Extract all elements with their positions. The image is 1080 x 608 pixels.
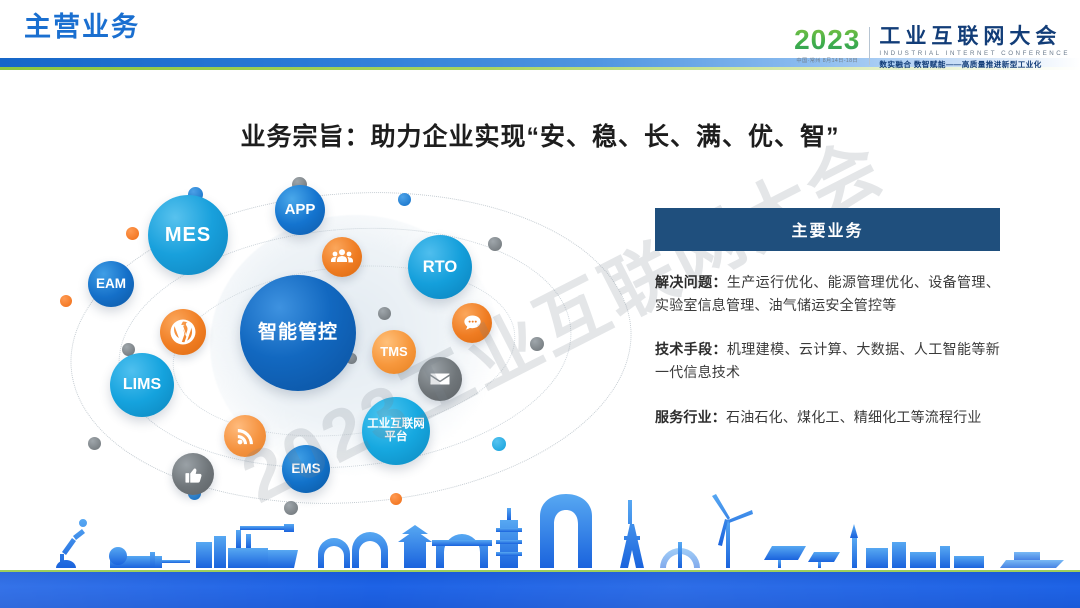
rss-signal-icon[interactable] <box>224 415 266 457</box>
logo-year-block: 2023 中国·常州 8月14日-18日 <box>794 26 869 64</box>
mail-envelope-icon[interactable] <box>418 357 462 401</box>
panel-item-label: 服务行业： <box>655 409 726 425</box>
chat-bubble-icon[interactable] <box>452 303 492 343</box>
accent-dot-blue-2 <box>398 193 411 206</box>
platform-label-line2: 平台 <box>367 431 425 444</box>
logo-name-cn: 工业互联网大会 <box>879 26 1070 48</box>
platform-label-line1: 工业互联网 <box>367 418 425 431</box>
bubble-diagram: 智能管控 MES APP EAM LIMS RTO TMS EMS 工业互联网 … <box>60 175 650 525</box>
panel-body: 解决问题：生产运行优化、能源管理优化、设备管理、实验室信息管理、油气储运安全管控… <box>655 251 1000 428</box>
accent-dot-gray-2 <box>488 237 502 251</box>
slide-root: 主营业务 2023 中国·常州 8月14日-18日 工业互联网大会 INDUST… <box>0 0 1080 608</box>
accent-dot-gray-6 <box>284 501 298 515</box>
bubble-rto[interactable]: RTO <box>408 235 472 299</box>
bubble-industrial-internet-platform[interactable]: 工业互联网 平台 <box>362 397 430 465</box>
bottom-blue-band <box>0 572 1080 608</box>
users-group-icon[interactable] <box>322 237 362 277</box>
panel-item-label: 解决问题： <box>655 274 727 290</box>
panel-header: 主要业务 <box>655 208 1000 251</box>
panel-item-problems: 解决问题：生产运行优化、能源管理优化、设备管理、实验室信息管理、油气储运安全管控… <box>655 271 1000 316</box>
bubble-eam[interactable]: EAM <box>88 261 134 307</box>
bubble-app[interactable]: APP <box>275 185 325 235</box>
accent-dot-orange-3 <box>390 493 402 505</box>
logo-divider <box>869 27 870 65</box>
bubble-mes[interactable]: MES <box>148 195 228 275</box>
panel-item-text: 石油石化、煤化工、精细化工等流程行业 <box>726 409 982 425</box>
logo-name-block: 工业互联网大会 INDUSTRIAL INTERNET CONFERENCE 数… <box>879 26 1070 70</box>
accent-dot-gray-7 <box>530 337 544 351</box>
bubble-tms[interactable]: TMS <box>372 330 416 374</box>
accent-dot-gray-5 <box>88 437 101 450</box>
bubble-ems[interactable]: EMS <box>282 445 330 493</box>
page-title: 主营业务 <box>24 14 140 41</box>
logo-year-subtext: 中国·常州 8月14日-18日 <box>796 57 858 64</box>
conference-logo: 2023 中国·常州 8月14日-18日 工业互联网大会 INDUSTRIAL … <box>794 26 1070 70</box>
panel-item-label: 技术手段： <box>655 341 727 357</box>
panel-item-industries: 服务行业：石油石化、煤化工、精细化工等流程行业 <box>655 406 1000 429</box>
logo-year: 2023 <box>794 26 860 54</box>
accent-dot-cyan-1 <box>492 437 506 451</box>
thumbs-up-icon[interactable] <box>172 453 214 495</box>
accent-dot-orange-1 <box>126 227 139 240</box>
logo-tagline: 数实融合 数智赋能——高质量推进新型工业化 <box>879 59 1070 70</box>
main-business-panel: 主要业务 解决问题：生产运行优化、能源管理优化、设备管理、实验室信息管理、油气储… <box>655 208 1000 450</box>
bubble-center[interactable]: 智能管控 <box>240 275 356 391</box>
purpose-heading: 业务宗旨：助力企业实现“安、稳、长、满、优、智” <box>0 117 1080 153</box>
bubble-lims[interactable]: LIMS <box>110 353 174 417</box>
accent-dot-gray-3 <box>378 307 391 320</box>
logo-name-en: INDUSTRIAL INTERNET CONFERENCE <box>879 50 1070 57</box>
accent-dot-orange-2 <box>60 295 72 307</box>
panel-item-technology: 技术手段：机理建模、云计算、大数据、人工智能等新一代信息技术 <box>655 338 1000 383</box>
wordpress-icon[interactable] <box>160 309 206 355</box>
